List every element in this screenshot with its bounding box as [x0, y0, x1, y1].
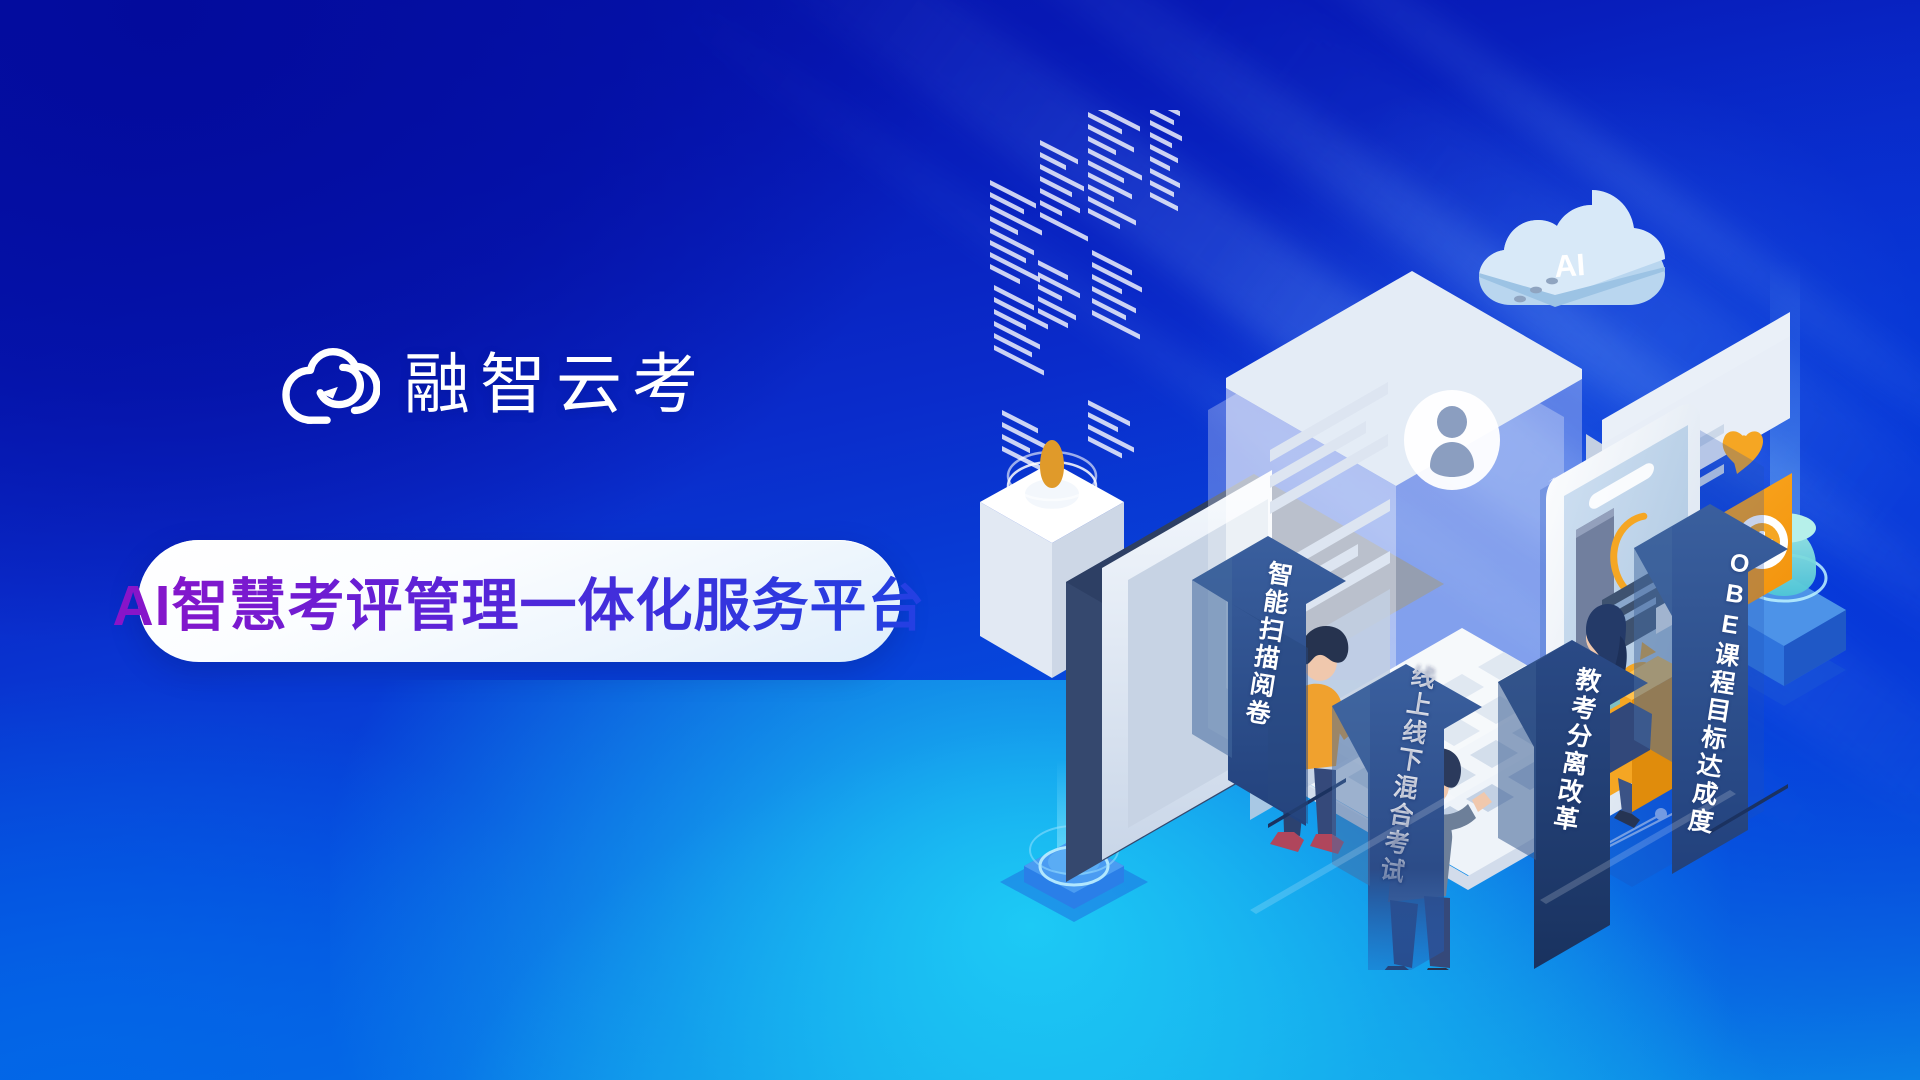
code-stream-lines — [990, 110, 1184, 471]
brand-lockup: 融智云考 — [282, 338, 708, 430]
brand-name: 融智云考 — [404, 351, 708, 417]
user-badge-icon — [1404, 390, 1500, 490]
ai-label: AI — [1553, 247, 1586, 284]
page-title: AI智慧考评管理一体化服务平台 — [113, 560, 926, 642]
cloud-link-icon — [282, 338, 380, 430]
hero-illustration: AI — [980, 110, 1920, 970]
ai-cloud-icon: AI — [1479, 190, 1665, 307]
headline-pill: AI智慧考评管理一体化服务平台 — [138, 540, 900, 662]
banner-root: 融智云考 AI智慧考评管理一体化服务平台 — [0, 0, 1920, 1080]
